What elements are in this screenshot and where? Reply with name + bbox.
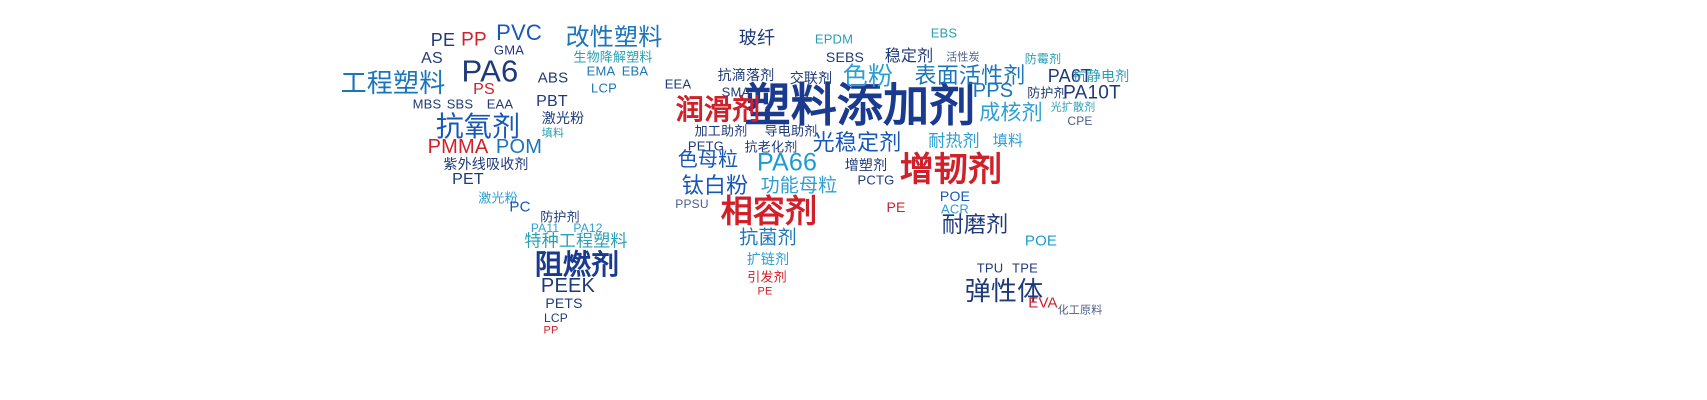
- cloud-word[interactable]: EBS: [931, 27, 958, 40]
- cloud-word[interactable]: SMA: [722, 86, 751, 99]
- cloud-word[interactable]: PC: [509, 200, 530, 215]
- cloud-word[interactable]: 加工助剂: [695, 125, 748, 138]
- cloud-word[interactable]: PA12: [573, 222, 602, 234]
- cloud-word[interactable]: PE: [886, 200, 905, 214]
- cloud-word[interactable]: 活性炭: [946, 53, 980, 64]
- cloud-word[interactable]: 抗滴落剂: [718, 68, 775, 82]
- cloud-word[interactable]: PET: [452, 172, 484, 188]
- cloud-word[interactable]: PPS: [973, 81, 1014, 101]
- cloud-word[interactable]: ABS: [538, 71, 569, 86]
- cloud-word[interactable]: POE: [1025, 234, 1057, 249]
- cloud-word[interactable]: 稳定剂: [885, 49, 934, 65]
- cloud-word[interactable]: PETS: [545, 296, 582, 310]
- cloud-word[interactable]: PCTG: [858, 174, 895, 187]
- cloud-word[interactable]: 改性塑料: [566, 26, 663, 50]
- cloud-word[interactable]: 防护剂: [1027, 87, 1067, 100]
- cloud-word[interactable]: PETG: [688, 140, 724, 153]
- cloud-word[interactable]: 填料: [542, 129, 564, 140]
- cloud-word[interactable]: TPU: [977, 262, 1004, 275]
- cloud-word[interactable]: PBT: [536, 94, 568, 110]
- cloud-word[interactable]: PA10T: [1063, 84, 1121, 103]
- cloud-word[interactable]: 紫外线吸收剂: [443, 157, 528, 171]
- cloud-word[interactable]: PP: [461, 31, 487, 50]
- cloud-word[interactable]: AS: [421, 51, 443, 67]
- cloud-word[interactable]: PPSU: [675, 198, 708, 210]
- word-cloud-canvas: 塑料添加剂增韧剂相容剂阻燃剂润滑剂工程塑料抗氧剂PA6改性塑料表面活性剂光稳定剂…: [0, 0, 1707, 400]
- cloud-word[interactable]: PE: [757, 287, 772, 298]
- cloud-word[interactable]: EAA: [487, 98, 514, 111]
- cloud-word[interactable]: 增韧剂: [900, 153, 1003, 187]
- cloud-word[interactable]: 导电助剂: [765, 125, 818, 138]
- cloud-word[interactable]: 抗静电剂: [1073, 69, 1130, 83]
- cloud-word[interactable]: PE: [431, 31, 455, 49]
- cloud-word[interactable]: LCP: [544, 312, 568, 324]
- cloud-word[interactable]: 交联剂: [790, 71, 833, 85]
- cloud-word[interactable]: PP: [543, 326, 558, 337]
- cloud-word[interactable]: 相容剂: [721, 195, 818, 227]
- cloud-word[interactable]: 功能母粒: [761, 177, 838, 196]
- cloud-word[interactable]: PMMA: [428, 137, 489, 157]
- cloud-word[interactable]: EEA: [665, 78, 692, 91]
- cloud-word[interactable]: 成核剂: [979, 103, 1043, 124]
- cloud-word[interactable]: CPE: [1067, 115, 1092, 127]
- cloud-word[interactable]: 玻纤: [739, 29, 775, 47]
- cloud-word[interactable]: 抗老化剂: [745, 141, 798, 154]
- cloud-word[interactable]: TPE: [1012, 262, 1038, 275]
- cloud-word[interactable]: 色粉: [843, 65, 893, 90]
- cloud-word[interactable]: 光扩散剂: [1051, 103, 1096, 114]
- cloud-word[interactable]: 增塑剂: [845, 158, 888, 172]
- cloud-word[interactable]: 化工原料: [1058, 306, 1103, 317]
- cloud-word[interactable]: 光稳定剂: [813, 132, 902, 154]
- cloud-word[interactable]: 抗菌剂: [739, 229, 797, 248]
- cloud-word[interactable]: EVA: [1028, 296, 1058, 311]
- cloud-word[interactable]: ACR: [941, 203, 969, 216]
- cloud-word[interactable]: 生物降解塑料: [573, 51, 652, 64]
- cloud-word[interactable]: EBA: [622, 65, 649, 78]
- cloud-word[interactable]: 耐磨剂: [942, 214, 1009, 236]
- cloud-word[interactable]: GMA: [494, 44, 524, 57]
- cloud-word[interactable]: 扩链剂: [747, 252, 790, 266]
- cloud-word[interactable]: 填料: [993, 134, 1023, 149]
- cloud-word[interactable]: MBS: [413, 98, 442, 111]
- cloud-word[interactable]: 激光粉: [542, 111, 585, 125]
- cloud-word[interactable]: SEBS: [826, 50, 864, 64]
- cloud-word[interactable]: LCP: [591, 82, 617, 95]
- cloud-word[interactable]: EPDM: [815, 33, 853, 46]
- cloud-word[interactable]: PVC: [496, 22, 542, 44]
- cloud-word[interactable]: SBS: [447, 98, 474, 111]
- cloud-word[interactable]: 钛白粉: [682, 175, 749, 197]
- cloud-word[interactable]: PA11: [531, 222, 559, 234]
- cloud-word[interactable]: 引发剂: [747, 271, 787, 284]
- cloud-word[interactable]: EMA: [587, 65, 616, 78]
- cloud-word[interactable]: PEEK: [541, 276, 595, 296]
- cloud-word[interactable]: 防霉剂: [1025, 53, 1062, 65]
- cloud-word[interactable]: 耐热剂: [928, 133, 980, 150]
- cloud-word[interactable]: POM: [496, 137, 542, 157]
- cloud-word[interactable]: 工程塑料: [341, 70, 446, 96]
- cloud-word[interactable]: 特种工程塑料: [524, 233, 627, 250]
- cloud-word[interactable]: 润滑剂: [676, 96, 761, 124]
